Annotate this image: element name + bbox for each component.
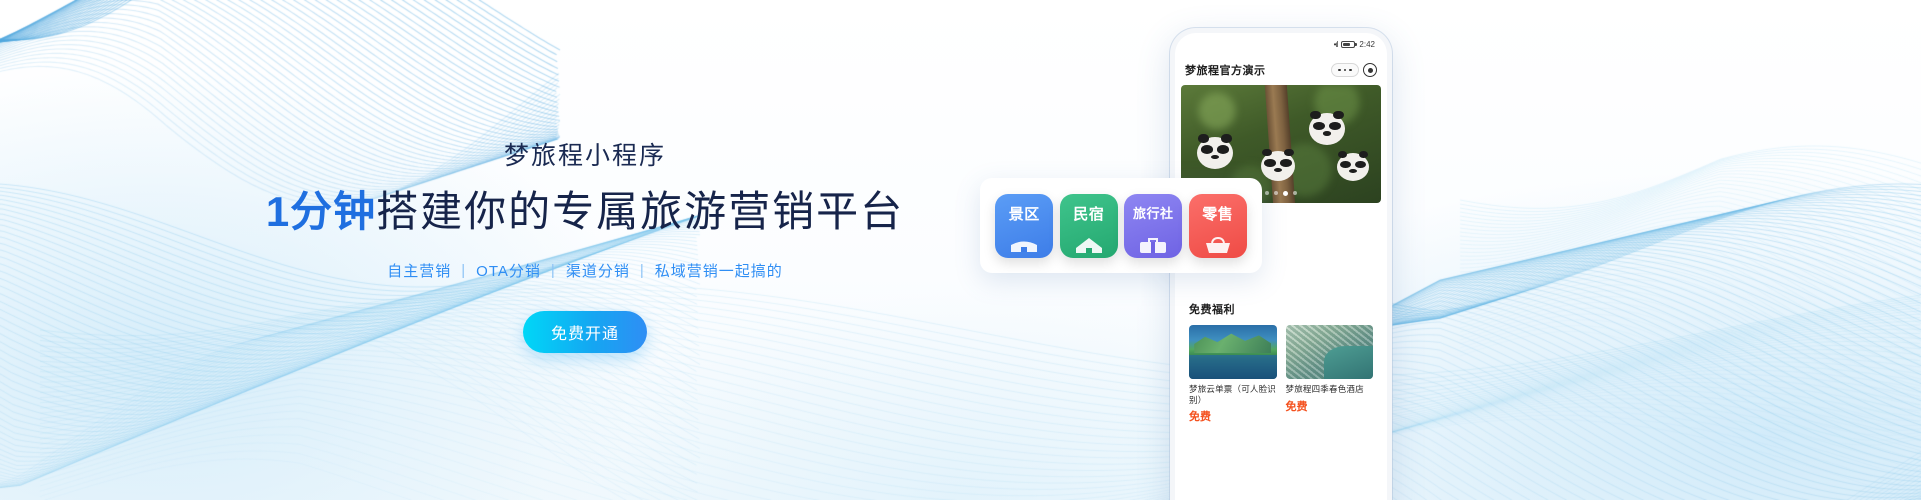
carousel-dot[interactable] <box>1265 191 1269 195</box>
tagline-item-1: OTA分销 <box>476 260 541 281</box>
tagline-separator: | <box>541 262 566 279</box>
welfare-section-title: 免费福利 <box>1189 301 1373 317</box>
welfare-item-name: 梦旅云单票（可人脸识别） <box>1189 384 1277 405</box>
miniprogram-title: 梦旅程官方演示 <box>1185 62 1266 78</box>
banner-eyebrow: 梦旅程小程序 <box>504 141 666 171</box>
phone-mockup: •ıl 2:42 梦旅程官方演示 <box>1148 22 1408 500</box>
status-time: 2:42 <box>1359 40 1375 49</box>
category-quicknav-card: 景区 民宿 旅行社 <box>980 178 1262 273</box>
category-label: 零售 <box>1202 203 1233 224</box>
category-label: 景区 <box>1009 203 1040 224</box>
category-tile-travel-agency[interactable]: 旅行社 <box>1124 194 1182 258</box>
phone-navbar: 梦旅程官方演示 <box>1175 55 1387 85</box>
tagline-separator: | <box>630 262 655 279</box>
category-label: 民宿 <box>1073 203 1104 224</box>
target-circle-icon[interactable] <box>1363 63 1377 77</box>
home-icon <box>1075 237 1103 254</box>
free-welfare-section: 免费福利 梦旅云单票（可人脸识别） 免费 梦旅程四季春色酒店 免费 <box>1181 301 1381 424</box>
more-dots-icon[interactable] <box>1331 63 1359 77</box>
category-tile-homestay[interactable]: 民宿 <box>1060 194 1118 258</box>
scenic-gate-icon <box>1009 236 1039 254</box>
battery-icon <box>1341 41 1355 48</box>
headline-rest: 搭建你的专属旅游营销平台 <box>376 188 904 235</box>
hero-banner: 梦旅程小程序 1分钟搭建你的专属旅游营销平台 自主营销 | OTA分销 | 渠道… <box>0 0 1921 500</box>
banner-headline: 1分钟搭建你的专属旅游营销平台 <box>266 187 904 237</box>
carousel-dot[interactable] <box>1274 191 1278 195</box>
category-tile-scenic[interactable]: 景区 <box>995 194 1053 258</box>
carousel-dot[interactable] <box>1293 191 1297 195</box>
welfare-card-grid: 梦旅云单票（可人脸识别） 免费 梦旅程四季春色酒店 免费 <box>1189 325 1373 424</box>
welfare-card[interactable]: 梦旅云单票（可人脸识别） 免费 <box>1189 325 1277 424</box>
tagline-item-0: 自主营销 <box>387 260 451 281</box>
tagline-separator: | <box>451 262 476 279</box>
welfare-card[interactable]: 梦旅程四季春色酒店 免费 <box>1286 325 1374 424</box>
tagline-item-3: 私域营销一起搞的 <box>655 260 783 281</box>
carousel-dot-active[interactable] <box>1283 191 1288 196</box>
suitcase-icon <box>1139 238 1167 254</box>
welfare-item-price: 免费 <box>1189 408 1277 424</box>
panda-2 <box>1261 151 1295 181</box>
miniprogram-capsule[interactable] <box>1331 63 1377 77</box>
panda-1 <box>1197 137 1233 169</box>
headline-accent: 1分钟 <box>266 188 376 235</box>
landscape-photo <box>1189 325 1277 379</box>
category-label: 旅行社 <box>1133 203 1174 222</box>
signal-icon: •ıl <box>1334 40 1338 49</box>
hotel-photo <box>1286 325 1374 379</box>
free-signup-button[interactable]: 免费开通 <box>523 311 647 353</box>
phone-status-bar: •ıl 2:42 <box>1175 33 1387 55</box>
welfare-item-price: 免费 <box>1286 398 1374 414</box>
banner-tagline: 自主营销 | OTA分销 | 渠道分销 | 私域营销一起搞的 <box>387 260 783 281</box>
shopping-basket-icon <box>1204 237 1232 254</box>
welfare-item-name: 梦旅程四季春色酒店 <box>1286 384 1374 395</box>
tagline-item-2: 渠道分销 <box>566 260 630 281</box>
category-tile-retail[interactable]: 零售 <box>1189 194 1247 258</box>
